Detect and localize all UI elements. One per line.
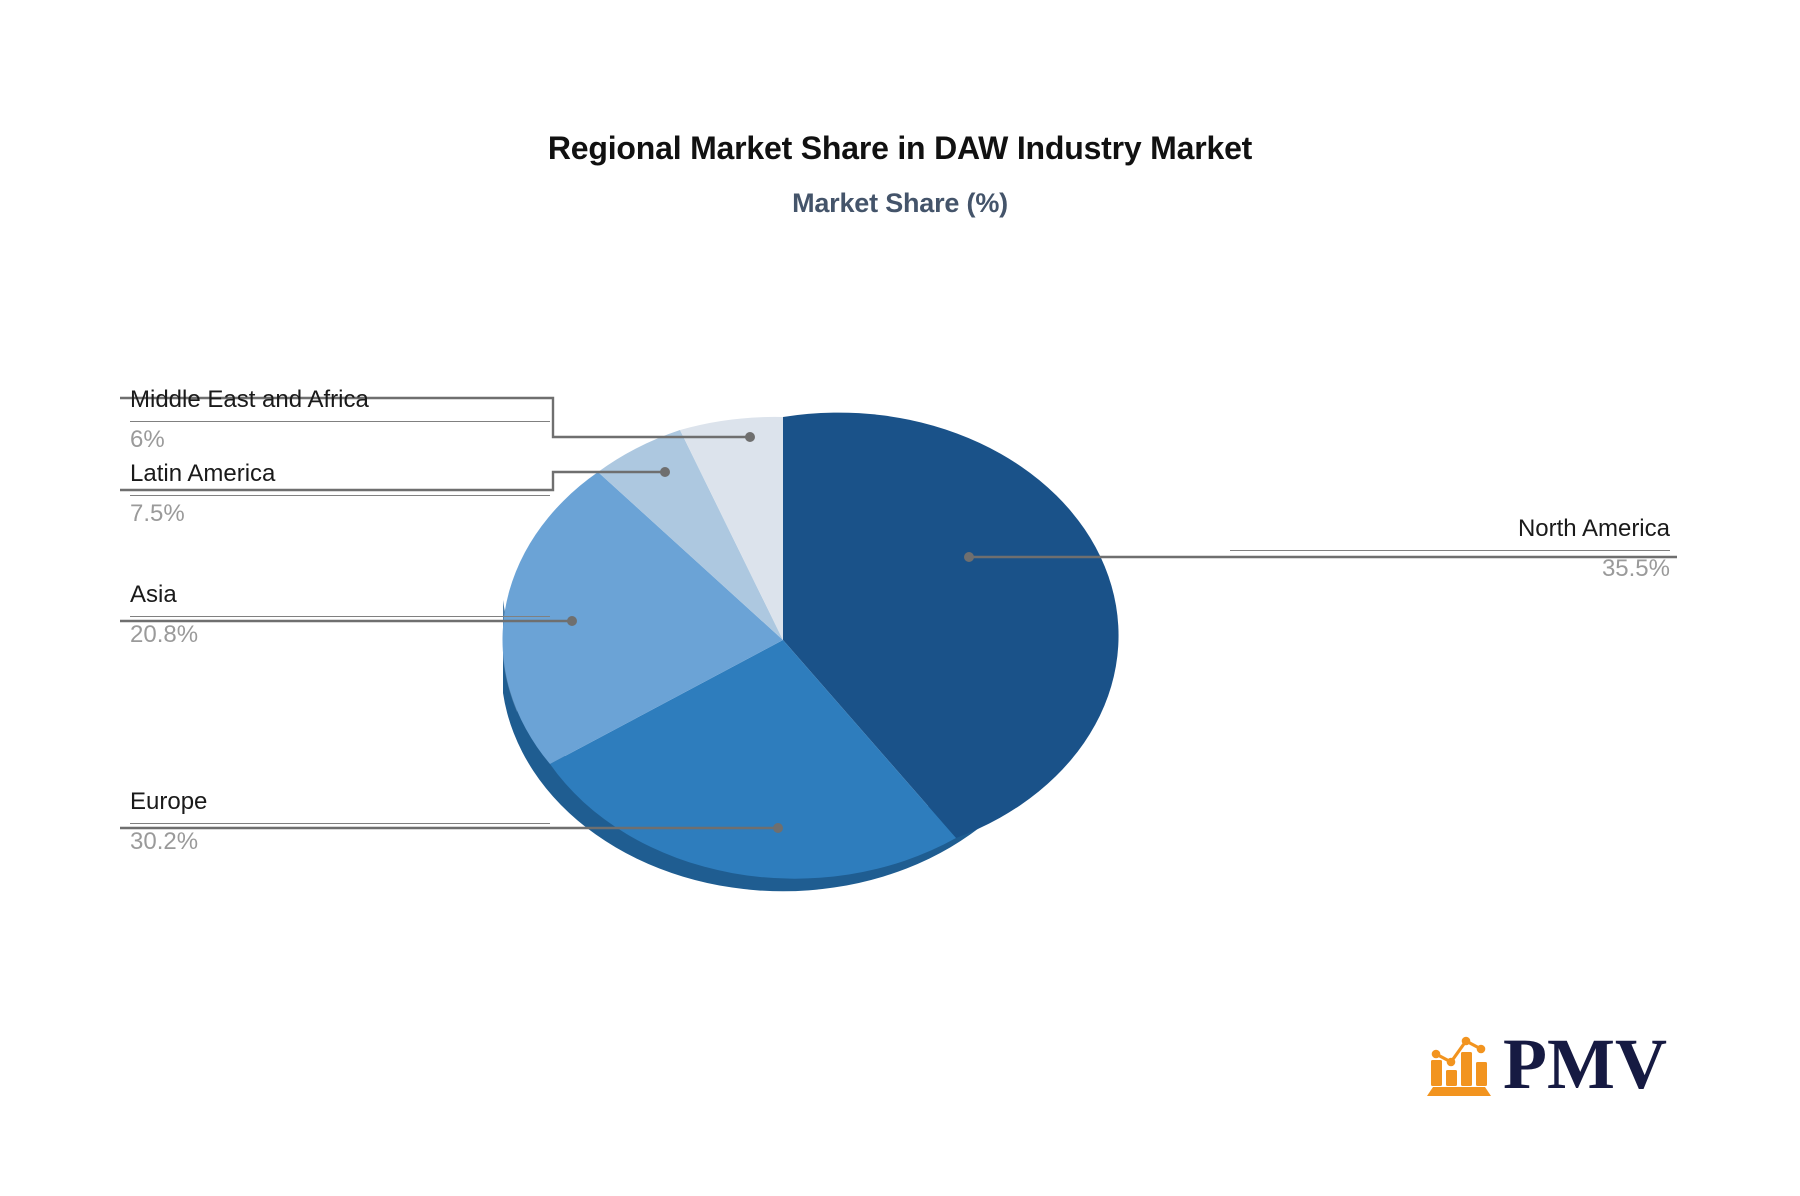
pie-top-face (503, 413, 1119, 879)
callout-label-north-america: North America (1230, 517, 1670, 541)
pmv-logo: PMV (1425, 1030, 1667, 1098)
callout-middle-east-africa: Middle East and Africa 6% (130, 388, 550, 452)
callout-rule-europe (130, 823, 550, 824)
leader-dot-north-america (964, 552, 974, 562)
callout-value-north-america: 35.5% (1230, 557, 1670, 581)
leader-dot-middle-east-africa (745, 432, 755, 442)
callout-value-asia: 20.8% (130, 623, 550, 647)
callout-asia: Asia 20.8% (130, 583, 550, 647)
callout-latin-america: Latin America 7.5% (130, 462, 550, 526)
callout-value-middle-east-africa: 6% (130, 428, 550, 452)
callout-rule-asia (130, 616, 550, 617)
callout-value-europe: 30.2% (130, 830, 550, 854)
leader-dot-latin-america (660, 467, 670, 477)
callout-rule-north-america (1230, 550, 1670, 551)
callout-label-latin-america: Latin America (130, 462, 550, 486)
callout-value-latin-america: 7.5% (130, 502, 550, 526)
callout-label-middle-east-africa: Middle East and Africa (130, 388, 550, 412)
chart-canvas: Regional Market Share in DAW Industry Ma… (0, 0, 1800, 1196)
pmv-logo-text: PMV (1503, 1031, 1667, 1097)
bar-chart-icon (1425, 1030, 1497, 1098)
callout-rule-latin-america (130, 495, 550, 496)
leader-dot-europe (773, 823, 783, 833)
callout-label-europe: Europe (130, 790, 550, 814)
callout-europe: Europe 30.2% (130, 790, 550, 854)
leader-dot-asia (567, 616, 577, 626)
callout-label-asia: Asia (130, 583, 550, 607)
callout-rule-middle-east-africa (130, 421, 550, 422)
callout-north-america: North America 35.5% (1230, 517, 1670, 581)
